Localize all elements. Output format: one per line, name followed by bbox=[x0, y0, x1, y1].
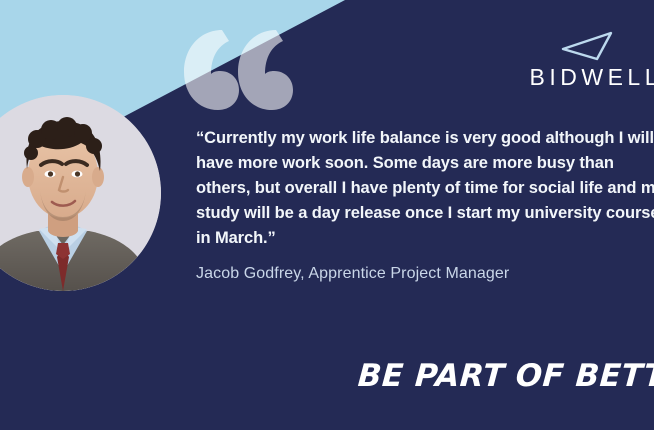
testimonial-graphic: “Currently my work life balance is very … bbox=[0, 0, 654, 430]
brand-wordmark: BIDWELL bbox=[530, 66, 654, 89]
quote-text: “Currently my work life balance is very … bbox=[196, 126, 654, 251]
brand-logo[interactable]: BIDWELL bbox=[530, 30, 654, 89]
triangle-arrow-icon bbox=[559, 30, 615, 62]
brand-tagline: BE PART OF BETT bbox=[357, 358, 654, 394]
quote-container: “Currently my work life balance is very … bbox=[196, 126, 654, 251]
quote-attribution: Jacob Godfrey, Apprentice Project Manage… bbox=[196, 265, 509, 283]
